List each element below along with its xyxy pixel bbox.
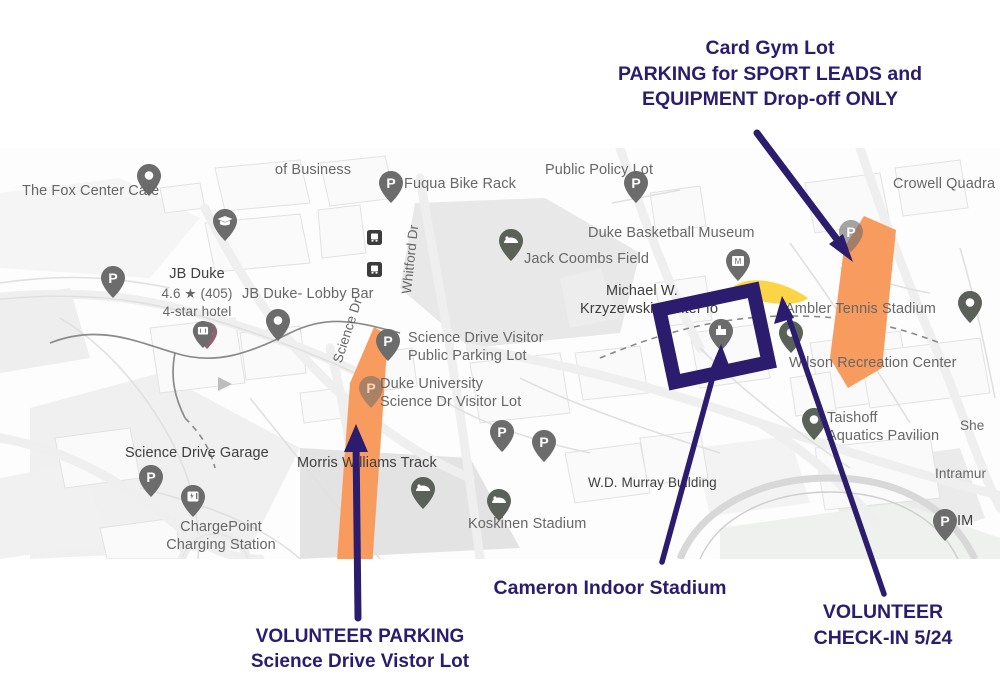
label-intramural-fields: Intramur <box>935 466 986 482</box>
annotation-volunteer-checkin-line1: VOLUNTEER <box>768 600 998 626</box>
label-wilson-recreation-center: Wilson Recreation Center <box>789 355 957 372</box>
svg-text:M: M <box>735 257 742 266</box>
label-duke-basketball-museum: Duke Basketball Museum <box>588 225 755 242</box>
label-fuqua-bike-rack: Fuqua Bike Rack <box>404 176 516 193</box>
label-science-drive-garage: Science Drive Garage <box>125 445 269 462</box>
pin-basketball-museum[interactable]: M <box>725 248 751 282</box>
svg-text:P: P <box>846 224 855 240</box>
annotation-cameron-indoor-stadium: Cameron Indoor Stadium <box>440 576 780 602</box>
pin-wilson-rec[interactable] <box>778 320 804 354</box>
annotation-volunteer-parking-line1: VOLUNTEER PARKING <box>160 624 560 649</box>
svg-text:P: P <box>366 380 375 396</box>
label-morris-williams-track: Morris Williams Track <box>297 455 437 472</box>
annotation-card-gym-line3: EQUIPMENT Drop-off ONLY <box>540 87 1000 113</box>
bus-stop-south[interactable] <box>367 262 382 277</box>
annotation-volunteer-parking: VOLUNTEER PARKING Science Drive Vistor L… <box>160 624 560 674</box>
annotation-card-gym-line1: Card Gym Lot <box>540 36 1000 62</box>
svg-text:P: P <box>497 424 506 440</box>
label-fuqua-school-of-business: of Business <box>275 162 351 179</box>
label-sheffield: She <box>960 418 984 434</box>
label-fox-center-cafe: The Fox Center Café <box>22 183 159 200</box>
annotation-card-gym-lot: Card Gym Lot PARKING for SPORT LEADS and… <box>540 36 1000 113</box>
annotation-volunteer-parking-line2: Science Drive Vistor Lot <box>160 649 560 674</box>
label-jack-coombs-field: Jack Coombs Field <box>524 251 649 268</box>
label-duke-univ-sci-lot-line1: Duke University <box>380 376 483 393</box>
pin-lot-a[interactable]: P <box>489 419 515 453</box>
pin-ambler-tennis[interactable] <box>957 290 983 324</box>
svg-text:P: P <box>940 513 949 529</box>
bus-stop-north[interactable] <box>367 230 382 245</box>
campus-map[interactable]: P P M P P <box>0 148 1000 559</box>
pin-jb-duke-parking[interactable]: P <box>100 265 126 299</box>
pin-taishoff[interactable] <box>801 407 827 441</box>
label-jb-duke-category: 4-star hotel <box>148 304 246 320</box>
pin-restaurant[interactable] <box>192 320 214 349</box>
annotation-volunteer-checkin-line2: CHECK-IN 5/24 <box>768 626 998 652</box>
label-ambler-tennis-stadium: Ambler Tennis Stadium <box>785 301 936 318</box>
pin-jack-coombs-field[interactable] <box>498 228 524 262</box>
svg-text:P: P <box>386 175 395 191</box>
label-crowell-quadrangle: Crowell Quadra <box>893 176 995 193</box>
svg-text:P: P <box>539 434 548 450</box>
label-jb-duke-rating: 4.6 ★ (405) <box>148 286 246 302</box>
pin-lot-b[interactable]: P <box>531 429 557 463</box>
svg-text:P: P <box>108 270 117 286</box>
pin-science-drive-lot[interactable]: P <box>375 328 401 362</box>
label-chargepoint-line1: ChargePoint <box>150 519 292 536</box>
pin-fuqua-bike-rack[interactable]: P <box>378 170 404 204</box>
pin-fuqua-school[interactable] <box>212 208 238 242</box>
label-krzyzewski-center-line1: Michael W. <box>582 283 702 300</box>
label-public-policy-lot: Public Policy Lot <box>545 162 653 179</box>
pin-im-lot[interactable]: P <box>932 508 958 542</box>
label-taishoff-line1: Taishoff <box>827 410 878 427</box>
pin-cameron-stadium[interactable] <box>708 318 734 352</box>
label-im-lot: IM <box>957 513 973 530</box>
svg-text:P: P <box>146 469 155 485</box>
label-krzyzewski-center-line2: Krzyzewski Center fo <box>580 301 718 318</box>
pin-morris-williams[interactable] <box>410 476 436 510</box>
pin-chargepoint[interactable] <box>180 484 206 518</box>
label-taishoff-line2: Aquatics Pavilion <box>827 428 939 445</box>
label-science-drive-visitor-line2: Public Parking Lot <box>408 348 527 365</box>
label-chargepoint-line2: Charging Station <box>150 537 292 554</box>
annotation-cameron-line1: Cameron Indoor Stadium <box>440 576 780 602</box>
label-duke-univ-sci-lot-line2: Science Dr Visitor Lot <box>380 394 521 411</box>
label-wd-murray-building: W.D. Murray Building <box>588 475 717 491</box>
label-koskinen-stadium: Koskinen Stadium <box>468 516 586 533</box>
pin-card-gym-lot[interactable]: P <box>838 219 864 253</box>
label-science-drive-visitor-line1: Science Drive Visitor <box>408 330 544 347</box>
pin-jb-duke-lobby-bar[interactable] <box>265 308 291 342</box>
annotation-volunteer-checkin: VOLUNTEER CHECK-IN 5/24 <box>768 600 998 651</box>
svg-text:P: P <box>383 333 392 349</box>
label-jb-duke: JB Duke <box>150 266 244 283</box>
map-annotation-page: Card Gym Lot PARKING for SPORT LEADS and… <box>0 0 1000 700</box>
pin-science-garage[interactable]: P <box>138 464 164 498</box>
annotation-card-gym-line2: PARKING for SPORT LEADS and <box>540 62 1000 88</box>
